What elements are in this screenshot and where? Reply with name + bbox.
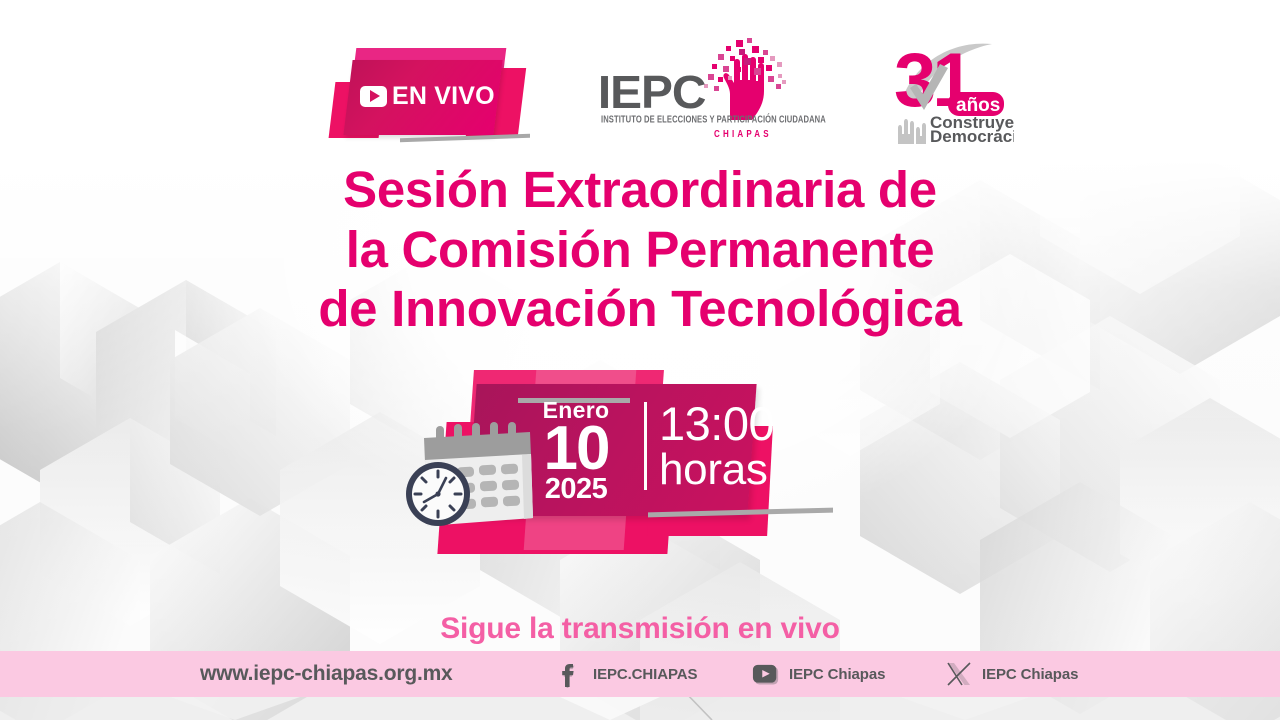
title-line-2: la Comisión Permanente [0, 220, 1280, 280]
hand-pixel-tree-icon [692, 36, 792, 120]
facebook-handle: IEPC.CHIAPAS [593, 666, 697, 683]
title-line-3: de Innovación Tecnológica [0, 279, 1280, 339]
call-to-action-text: Sigue la transmisión en vivo [0, 612, 1280, 646]
page-title: Sesión Extraordinaria de la Comisión Per… [0, 160, 1280, 339]
social-x-twitter[interactable]: IEPC Chiapas [945, 651, 1078, 697]
play-icon [360, 86, 387, 107]
iepc-subtitle: INSTITUTO DE ELECCIONES Y PARTICIPACIÓN … [601, 113, 791, 125]
iepc-logo: IEPC INSTITUTO DE ELECCIONES Y PARTICIPA… [598, 38, 794, 142]
x-twitter-icon [945, 661, 973, 687]
broadcast-announcement-card: EN VIVO [0, 0, 1280, 720]
event-time-value: 13:00 [659, 400, 774, 448]
live-badge[interactable]: EN VIVO [330, 42, 540, 147]
event-datetime-banner: Enero 10 2025 13:00 horas [400, 360, 870, 580]
header-logos: EN VIVO [0, 0, 1280, 150]
social-facebook[interactable]: IEPC.CHIAPAS [556, 651, 697, 697]
svg-text:Democracia: Democracia [930, 127, 1014, 144]
iepc-state-label: CHIAPAS [714, 128, 772, 140]
social-youtube[interactable]: IEPC Chiapas [752, 651, 885, 697]
live-badge-label: EN VIVO [392, 82, 495, 111]
badge-line-bottom [400, 134, 530, 143]
event-year: 2025 [520, 475, 632, 504]
event-day: 10 [520, 420, 632, 477]
facebook-icon [556, 661, 584, 687]
anniversary-logo: 31 años Construyendo Democracia [888, 34, 1014, 144]
event-time-unit: horas [659, 448, 774, 493]
youtube-handle: IEPC Chiapas [789, 666, 885, 683]
banner-divider [644, 402, 647, 490]
footer-bar: www.iepc-chiapas.org.mx IEPC.CHIAPAS IEP… [0, 651, 1280, 697]
website-url[interactable]: www.iepc-chiapas.org.mx [200, 651, 453, 697]
event-date: Enero 10 2025 [520, 396, 632, 504]
x-handle: IEPC Chiapas [982, 666, 1078, 683]
title-line-1: Sesión Extraordinaria de [0, 160, 1280, 220]
youtube-icon [752, 661, 780, 687]
iepc-acronym: IEPC [598, 65, 706, 119]
event-time: 13:00 horas [659, 396, 774, 493]
